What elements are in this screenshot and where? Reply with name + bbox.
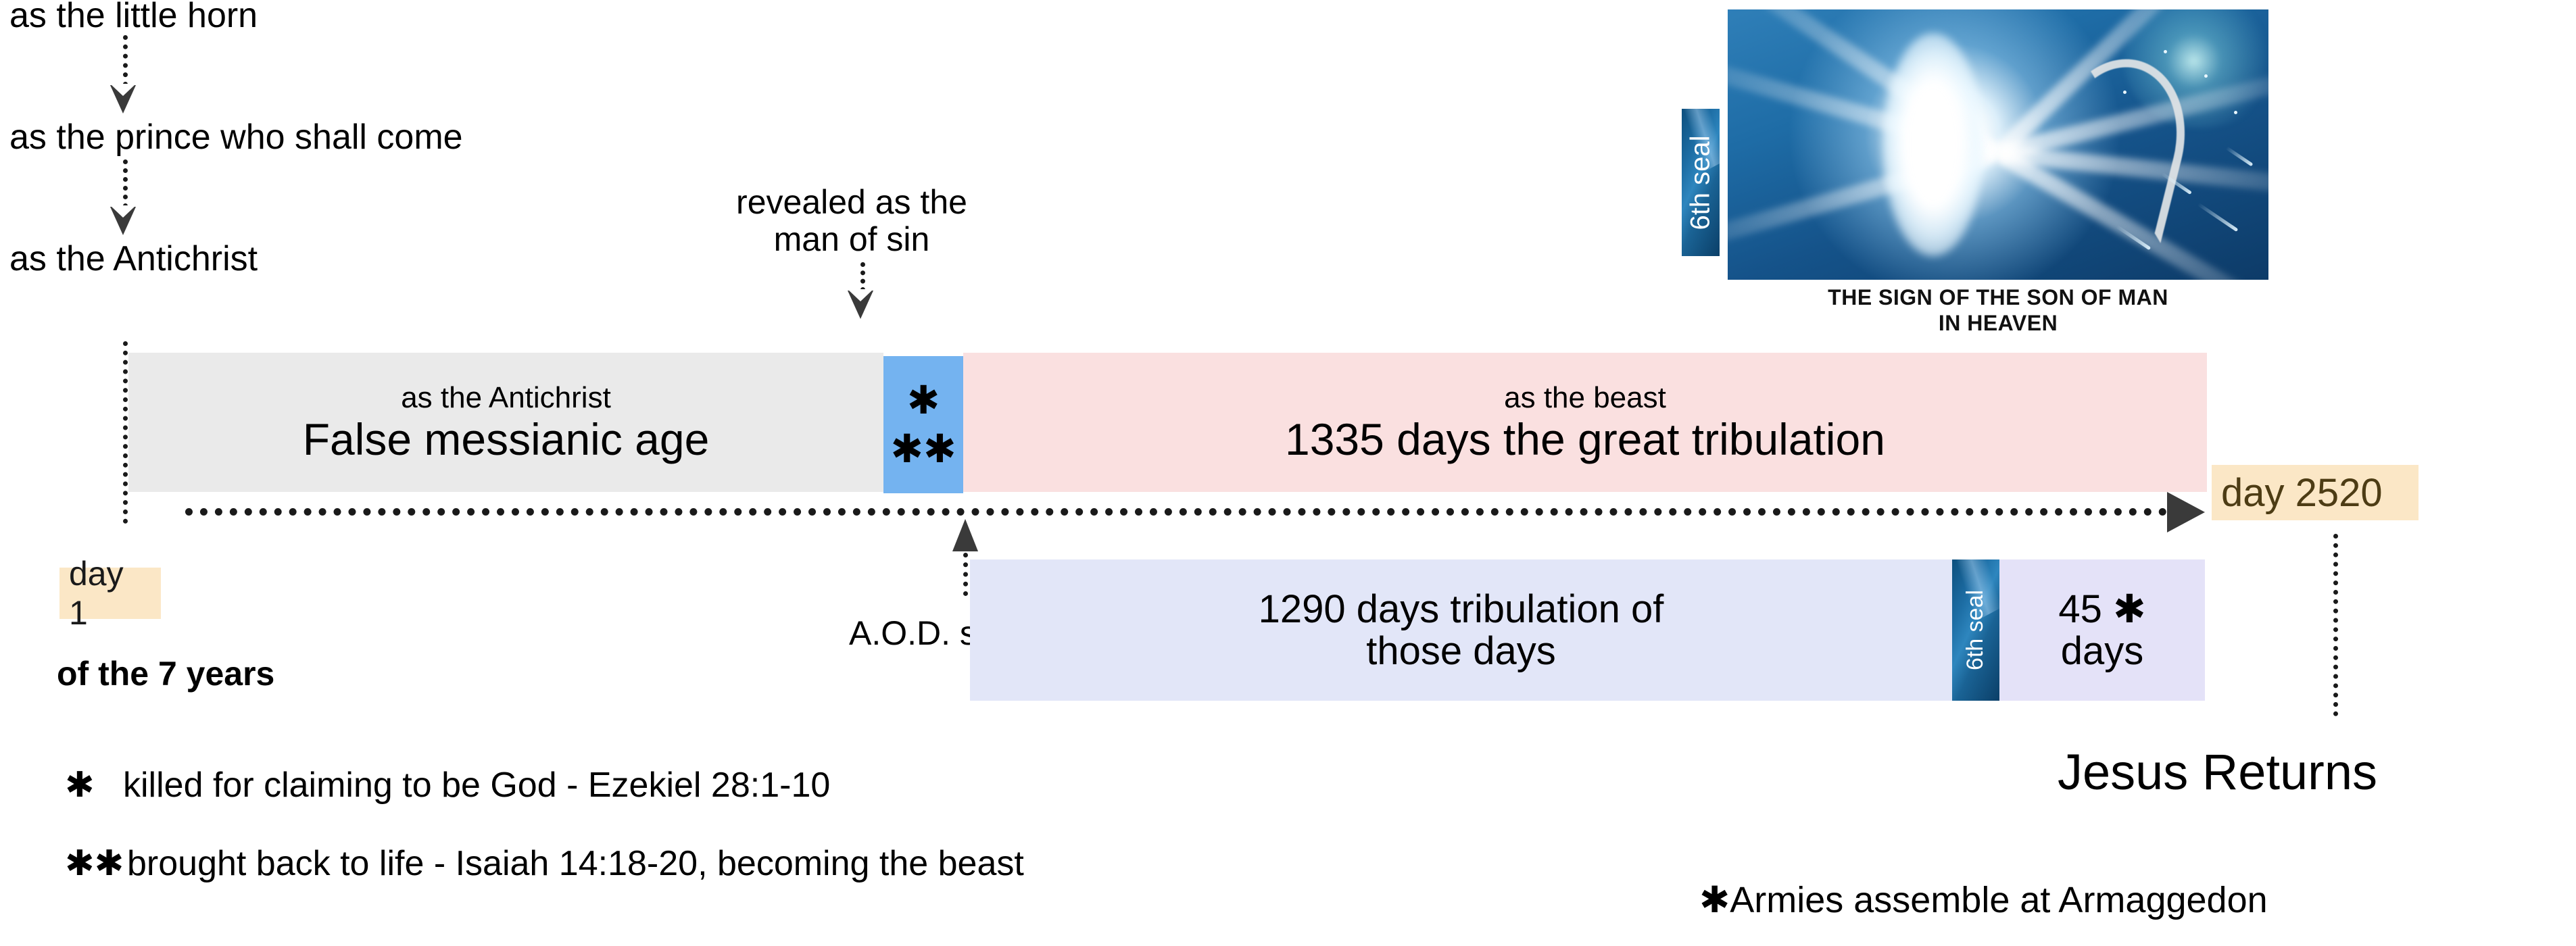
bar-6th-seal-label: 6th seal — [1963, 590, 1989, 670]
bar-great-tribulation-label: 1335 days the great tribulation — [1285, 417, 1885, 462]
bar-great-tribulation-sublabel: as the beast — [1504, 383, 1666, 413]
timeline-axis — [185, 508, 2197, 516]
callout-man-of-sin: revealed as the man of sin — [676, 184, 1027, 258]
bar-1290-days: 1290 days tribulation of those days — [970, 559, 1952, 701]
star-dot — [2164, 50, 2167, 53]
label-jesus-returns: Jesus Returns — [2058, 743, 2377, 801]
callout-line-1: revealed as the — [676, 184, 1027, 221]
bar-45-days-label: 45 ✱ days — [2058, 589, 2145, 672]
meteor-streak — [2226, 147, 2254, 167]
heaven-image-seal-label: 6th seal — [1686, 135, 1716, 230]
lineage-arrow-1-icon — [110, 85, 136, 114]
footnote-double-asterisk: ✱✱brought back to life - Isaiah 14:18-20… — [65, 843, 1024, 884]
footnote-double-asterisk-text: brought back to life - Isaiah 14:18-20, … — [127, 844, 1024, 883]
lineage-arrow-2-icon — [110, 207, 136, 235]
chip-day-2520: day 2520 — [2212, 465, 2419, 520]
lineage-label-little-horn: as the little horn — [9, 0, 258, 34]
bar-revealed-mark-top: ✱ — [907, 381, 940, 420]
aod-setup-connector — [963, 553, 968, 596]
bar-1290-days-line-2: those days — [1259, 630, 1664, 672]
lineage-label-prince: as the prince who shall come — [9, 119, 463, 156]
lineage-connector-1 — [123, 35, 128, 86]
timeline-axis-arrow-icon — [2167, 492, 2205, 532]
heaven-image-caption-line-2: IN HEAVEN — [1728, 311, 2268, 337]
chip-day-2520-label: day 2520 — [2221, 470, 2383, 516]
jesus-returns-dropline — [2333, 534, 2338, 716]
chip-day-1-label: day 1 — [69, 554, 151, 632]
timeline-start-dropline — [123, 341, 128, 524]
heaven-image-caption-line-1: THE SIGN OF THE SON OF MAN — [1728, 285, 2268, 311]
light-burst — [1882, 33, 1984, 256]
star-dot — [2204, 74, 2208, 78]
footnote-double-asterisk-mark: ✱✱ — [65, 843, 127, 884]
bar-false-messianic-age-sublabel: as the Antichrist — [401, 383, 611, 413]
bar-45-days-line-2: days — [2058, 630, 2145, 672]
bar-revealed-segment: ✱ ✱✱ — [883, 356, 963, 493]
star-dot — [2123, 91, 2127, 94]
callout-connector — [860, 262, 865, 292]
sign-of-son-of-man-image — [1728, 9, 2268, 280]
callout-line-2: man of sin — [676, 221, 1027, 258]
bar-45-days: 45 ✱ days — [1999, 559, 2205, 701]
callout-arrow-icon — [848, 291, 873, 319]
bar-1290-days-line-1: 1290 days tribulation of — [1259, 589, 1664, 630]
footnote-single-asterisk-text: killed for claiming to be God - Ezekiel … — [123, 766, 830, 805]
aod-setup-arrow-icon — [952, 519, 978, 551]
bar-45-days-line-1: 45 ✱ — [2058, 589, 2145, 630]
footnote-single-asterisk: ✱killed for claiming to be God - Ezekiel… — [65, 765, 830, 805]
bar-revealed-mark-bottom: ✱✱ — [890, 430, 956, 469]
label-armies-assemble: ✱Armies assemble at Armaggedon — [1699, 878, 2268, 921]
label-of-the-7-years: of the 7 years — [57, 654, 274, 693]
meteor-streak — [2197, 203, 2239, 232]
heaven-image-seal-strip: 6th seal — [1682, 109, 1720, 256]
lineage-label-antichrist: as the Antichrist — [9, 241, 258, 278]
lineage-connector-2 — [123, 159, 128, 208]
footnote-single-asterisk-mark: ✱ — [65, 765, 123, 805]
bar-1290-days-label: 1290 days tribulation of those days — [1259, 589, 1664, 672]
chip-day-1: day 1 — [59, 568, 161, 619]
heaven-image-caption: THE SIGN OF THE SON OF MAN IN HEAVEN — [1728, 285, 2268, 337]
bar-false-messianic-age-label: False messianic age — [303, 417, 710, 462]
bar-great-tribulation: as the beast 1335 days the great tribula… — [963, 353, 2207, 492]
star-dot — [2234, 111, 2237, 114]
bar-false-messianic-age: as the Antichrist False messianic age — [128, 353, 883, 492]
bar-6th-seal-strip: 6th seal — [1952, 559, 1999, 701]
